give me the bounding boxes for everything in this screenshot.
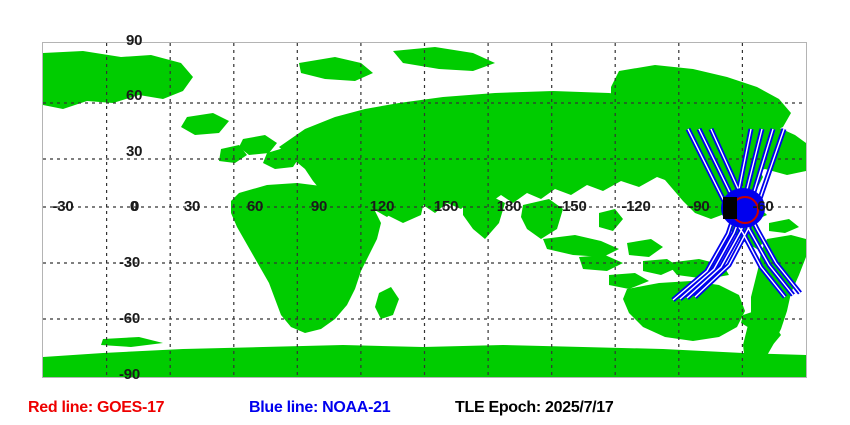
lon-tick-n90: -90 <box>673 199 725 214</box>
lon-tick-n150: -150 <box>546 199 598 214</box>
lat-tick-60: 60 <box>126 88 142 103</box>
lat-tick-n90: -90 <box>119 367 140 382</box>
lat-tick-n30: -30 <box>119 255 140 270</box>
legend-red-line-goes17: Red line: GOES-17 <box>28 400 164 416</box>
lat-tick-90: 90 <box>126 33 142 48</box>
lon-tick-180: 180 <box>487 199 531 214</box>
legend-tle-epoch: TLE Epoch: 2025/7/17 <box>455 400 614 416</box>
lon-tick-n120: -120 <box>610 199 662 214</box>
lat-tick-n60: -60 <box>119 311 140 326</box>
lon-tick-n30: -30 <box>41 199 85 214</box>
legend-footer: Red line: GOES-17 Blue line: NOAA-21 TLE… <box>0 392 850 425</box>
lon-tick-150: 150 <box>424 199 468 214</box>
satellite-position-marker <box>723 197 737 219</box>
lon-tick-0: 0 <box>122 199 146 214</box>
satellite-ground-track-map: 90 60 30 0 -30 -60 -90 -30 0 30 60 90 12… <box>0 0 850 425</box>
legend-blue-line-noaa21: Blue line: NOAA-21 <box>249 400 390 416</box>
lon-tick-n60: -60 <box>737 199 789 214</box>
lon-tick-90: 90 <box>301 199 337 214</box>
lon-tick-120: 120 <box>360 199 404 214</box>
lon-tick-30: 30 <box>174 199 210 214</box>
lat-tick-30: 30 <box>126 144 142 159</box>
lon-tick-60: 60 <box>237 199 273 214</box>
